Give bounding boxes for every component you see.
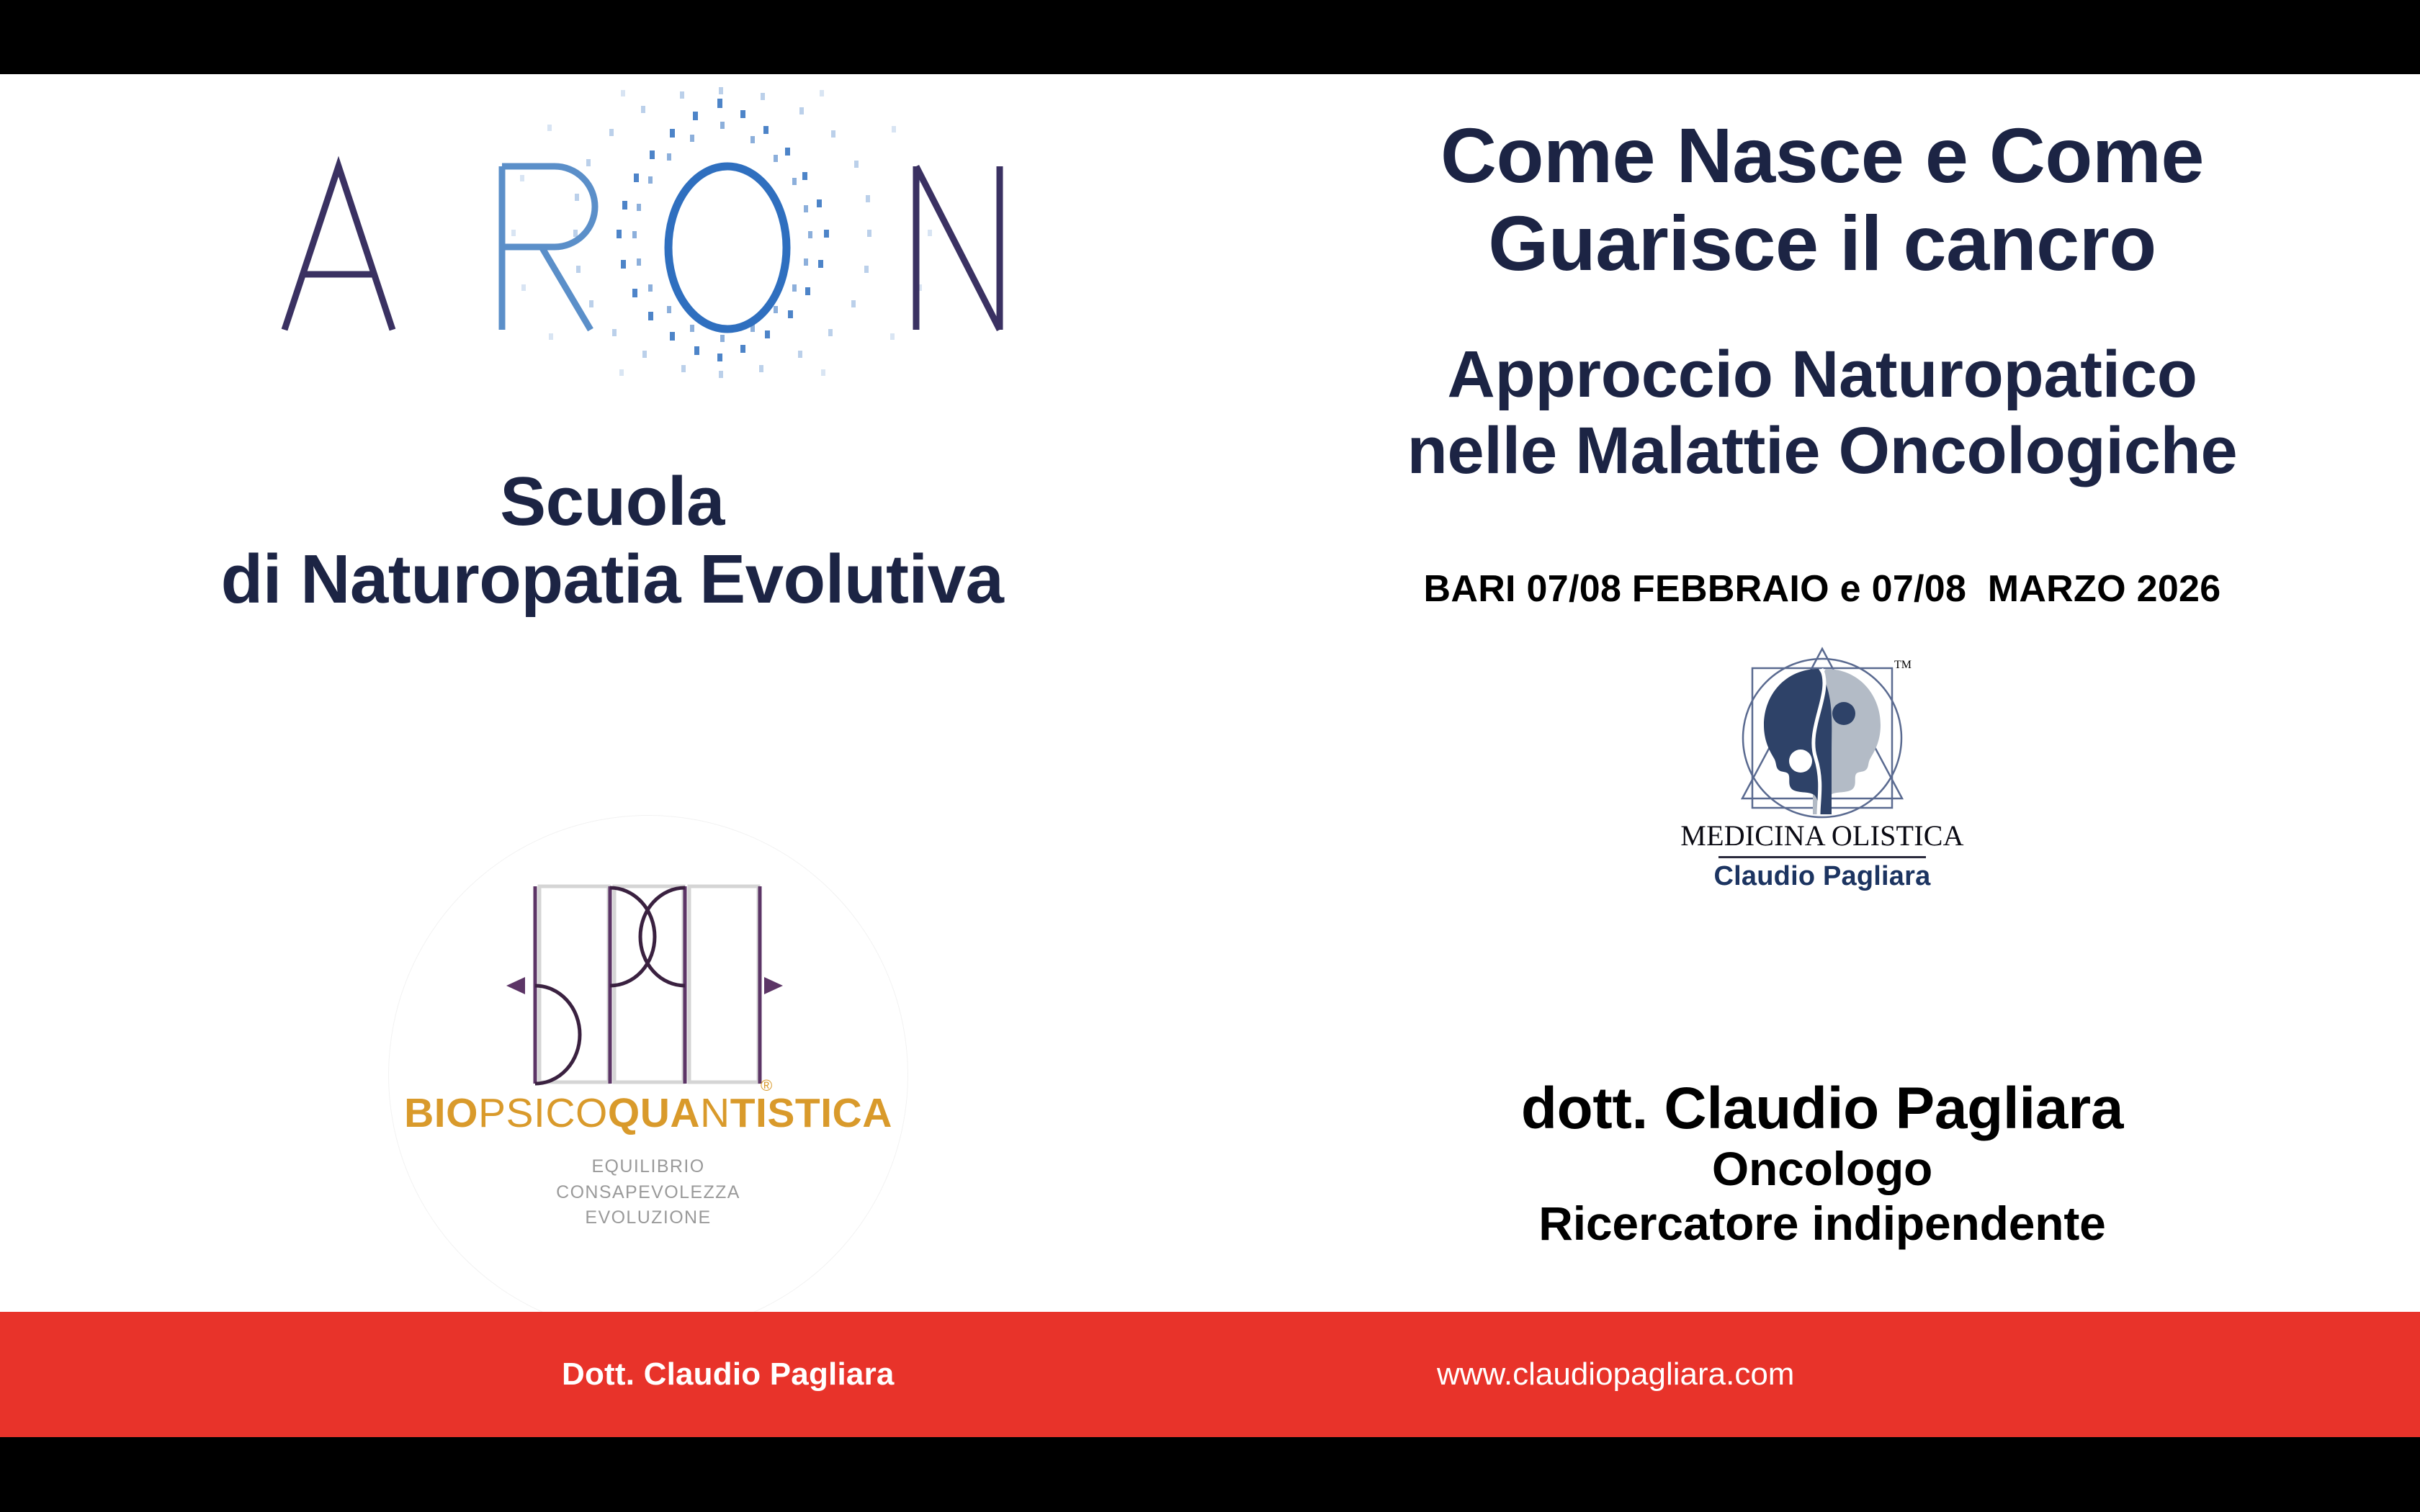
main-title-line-1: Come Nasce e Come [1224,112,2420,199]
aron-letter-o [668,166,786,329]
bpq-wordmark: BIOPSICOQUANTISTICA [389,1093,907,1134]
subtitle-line-2: nelle Malattie Oncologiche [1224,413,2420,490]
speaker-block: dott. Claudio Pagliara Oncologo Ricercat… [1224,1077,2420,1251]
school-title: Scuola di Naturopatia Evolutiva [0,463,1224,618]
bpq-monogram-svg [501,881,789,1089]
olistica-logo-line-1: MEDICINA OLISTICA [1649,822,1995,850]
bpq-wordmark-part-5: TISTICA [730,1090,892,1136]
dual-profile-badge-svg [1725,643,1919,837]
bpq-tagline: EQUILIBRIO CONSAPEVOLEZZA EVOLUZIONE [389,1154,907,1231]
event-date-venue: BARI 07/08 FEBBRAIO e 07/08 MARZO 2026 [1224,567,2420,611]
aron-letter-n [916,166,1000,330]
bpq-tagline-line-1: EQUILIBRIO [389,1154,907,1180]
bpq-wordmark-part-4: N [700,1090,730,1136]
school-title-line-1: Scuola [500,463,725,540]
right-column: Come Nasce e Come Guarisce il cancro App… [1224,74,2420,1312]
olistica-logo-divider [1718,856,1926,858]
olistica-logo-line-2: Claudio Pagliara [1649,863,1995,890]
footer-website-url[interactable]: www.claudiopagliara.com [1437,1356,1794,1392]
speaker-name: dott. Claudio Pagliara [1224,1077,2420,1141]
bpq-wordmark-part-2: PSICO [478,1090,608,1136]
footer-bar: Dott. Claudio Pagliara www.claudiopaglia… [0,1312,2420,1437]
page-title: Come Nasce e Come Guarisce il cancro [1224,112,2420,287]
trademark-icon: TM [1894,659,1912,672]
dot-navy-icon [1832,702,1855,725]
medicina-olistica-badge-icon [1725,643,1919,837]
speaker-role-2: Ricercatore indipendente [1224,1196,2420,1251]
slide-stage: Scuola di Naturopatia Evolutiva [0,74,2420,1312]
presentation-slide: Scuola di Naturopatia Evolutiva [0,0,2420,1512]
biopsicoquantistica-logo: BIOPSICOQUANTISTICA ® EQUILIBRIO CONSAPE… [389,816,907,1334]
page-subtitle: Approccio Naturopatico nelle Malattie On… [1224,337,2420,490]
main-title-line-2: Guarisce il cancro [1224,199,2420,287]
speaker-role-1: Oncologo [1224,1141,2420,1197]
school-title-line-2: di Naturopatia Evolutiva [0,541,1224,618]
footer-author-name: Dott. Claudio Pagliara [562,1356,895,1392]
aron-logo-svg [0,81,1224,384]
letterbox-bottom [0,1437,2420,1512]
bpq-tagline-line-2: CONSAPEVOLEZZA [389,1180,907,1206]
bpq-monogram-icon [501,881,789,1089]
aron-logo [0,81,1224,384]
bpq-tagline-line-3: EVOLUZIONE [389,1205,907,1231]
bpq-wordmark-part-3: QUA [608,1090,700,1136]
medicina-olistica-logo: TM MEDICINA OLISTICA Claudio Pagliara [1649,643,1995,917]
aron-letter-a [284,166,393,330]
registered-trademark-icon: ® [761,1076,772,1095]
left-column: Scuola di Naturopatia Evolutiva [0,74,1224,1312]
bpq-wordmark-part-1: BIO [404,1090,478,1136]
letterbox-top [0,0,2420,74]
subtitle-line-1: Approccio Naturopatico [1224,337,2420,413]
dot-white-icon [1789,750,1812,773]
